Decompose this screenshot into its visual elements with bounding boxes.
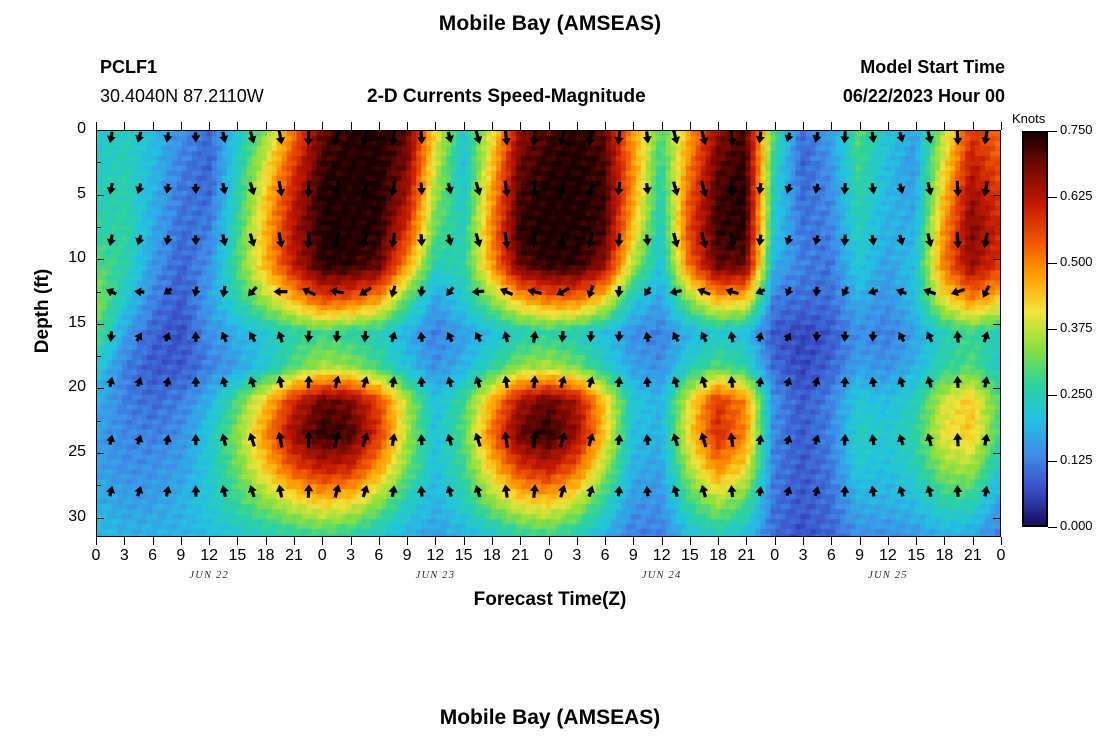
x-axis-tick (124, 537, 125, 545)
model-start-time-value: 06/22/2023 Hour 00 (660, 86, 1005, 107)
x-axis-day-label: JUN 23 (375, 570, 495, 581)
colorbar-tick (1048, 263, 1057, 264)
x-axis-title: Forecast Time(Z) (0, 589, 1100, 611)
y-axis-tick (96, 453, 104, 454)
x-axis-tick-label: 3 (109, 547, 139, 565)
x-axis-tick (266, 537, 267, 545)
x-axis-tick (1001, 537, 1002, 545)
x-axis-tick-label: 9 (166, 547, 196, 565)
x-axis-tick-top (294, 122, 295, 130)
x-axis-tick-label: 0 (534, 547, 564, 565)
x-axis-tick (520, 537, 521, 545)
x-axis-tick-top (973, 122, 974, 130)
x-axis-tick-top (775, 122, 776, 130)
y-axis-minor-tick (96, 356, 101, 357)
x-axis-tick-top (96, 122, 97, 130)
x-axis-tick (944, 537, 945, 545)
x-axis-tick (577, 537, 578, 545)
y-axis-tick-right (993, 518, 1001, 519)
x-axis-tick-label: 15 (675, 547, 705, 565)
colorbar-tick (1048, 461, 1057, 462)
x-axis-tick (549, 537, 550, 545)
colorbar-tick (1048, 131, 1057, 132)
x-axis-tick-top (803, 122, 804, 130)
colorbar-tick-label: 0.500 (1060, 254, 1093, 269)
x-axis-tick (181, 537, 182, 545)
station-coordinates: 30.4040N 87.2110W (100, 86, 264, 107)
x-axis-tick-label: 0 (307, 547, 337, 565)
colorbar-tick-label: 0.750 (1060, 122, 1093, 137)
x-axis-tick-top (407, 122, 408, 130)
x-axis-tick-label: 9 (392, 547, 422, 565)
x-axis-tick-label: 21 (279, 547, 309, 565)
x-axis-tick (407, 537, 408, 545)
x-axis-tick-top (605, 122, 606, 130)
colorbar-tick-label: 0.375 (1060, 320, 1093, 335)
x-axis-day-label: JUN 24 (602, 570, 722, 581)
x-axis-tick-label: 21 (731, 547, 761, 565)
x-axis-tick (718, 537, 719, 545)
x-axis-tick-label: 0 (986, 547, 1016, 565)
x-axis-tick-top (718, 122, 719, 130)
colorbar-tick-label: 0.625 (1060, 188, 1093, 203)
y-axis-tick (96, 130, 104, 131)
y-axis-tick-label: 10 (40, 249, 86, 267)
x-axis-tick (803, 537, 804, 545)
x-axis-tick-label: 0 (760, 547, 790, 565)
x-axis-tick (294, 537, 295, 545)
y-axis-minor-tick (96, 421, 101, 422)
x-axis-tick-top (464, 122, 465, 130)
x-axis-tick (464, 537, 465, 545)
x-axis-tick (435, 537, 436, 545)
x-axis-tick-top (124, 122, 125, 130)
x-axis-tick-label: 12 (194, 547, 224, 565)
x-axis-tick-top (322, 122, 323, 130)
colorbar-gradient (1024, 133, 1046, 525)
colorbar-tick (1048, 329, 1057, 330)
x-axis-tick-label: 18 (703, 547, 733, 565)
x-axis-tick (351, 537, 352, 545)
y-axis-minor-tick (96, 292, 101, 293)
y-axis-tick (96, 195, 104, 196)
x-axis-tick-top (633, 122, 634, 130)
x-axis-tick (322, 537, 323, 545)
x-axis-tick-label: 0 (81, 547, 111, 565)
y-axis-minor-tick (96, 162, 101, 163)
x-axis-tick-top (209, 122, 210, 130)
x-axis-tick-top (746, 122, 747, 130)
x-axis-tick-label: 15 (222, 547, 252, 565)
colorbar (1022, 131, 1048, 527)
x-axis-tick-top (549, 122, 550, 130)
x-axis-tick-top (577, 122, 578, 130)
station-id: PCLF1 (100, 57, 157, 78)
colorbar-tick-label: 0.000 (1060, 518, 1093, 533)
y-axis-tick-label: 20 (40, 378, 86, 396)
x-axis-tick-top (520, 122, 521, 130)
x-axis-tick-top (888, 122, 889, 130)
x-axis-tick-top (1001, 122, 1002, 130)
chart-subtitle: 2-D Currents Speed-Magnitude (367, 86, 646, 108)
x-axis-tick (237, 537, 238, 545)
y-axis-tick (96, 324, 104, 325)
x-axis-tick-label: 15 (901, 547, 931, 565)
x-axis-tick-top (351, 122, 352, 130)
y-axis-tick-label: 30 (40, 508, 86, 526)
x-axis-tick (492, 537, 493, 545)
y-axis-tick-label: 0 (40, 120, 86, 138)
x-axis-tick-top (237, 122, 238, 130)
y-axis-tick-right (993, 130, 1001, 131)
y-axis-tick-right (993, 324, 1001, 325)
x-axis-day-label: JUN 25 (828, 570, 948, 581)
y-axis-tick-label: 15 (40, 314, 86, 332)
x-axis-tick-label: 12 (873, 547, 903, 565)
x-axis-day-label: JUN 22 (149, 570, 269, 581)
colorbar-tick (1048, 395, 1057, 396)
y-axis-title: Depth (ft) (32, 251, 54, 371)
x-axis-tick (209, 537, 210, 545)
x-axis-tick-label: 12 (420, 547, 450, 565)
x-axis-tick-label: 12 (647, 547, 677, 565)
x-axis-tick (633, 537, 634, 545)
x-axis-tick-label: 9 (618, 547, 648, 565)
x-axis-tick-top (690, 122, 691, 130)
x-axis-tick-top (662, 122, 663, 130)
colorbar-tick-label: 0.250 (1060, 386, 1093, 401)
x-axis-tick-label: 6 (816, 547, 846, 565)
x-axis-tick-top (916, 122, 917, 130)
x-axis-tick-top (379, 122, 380, 130)
x-axis-tick-label: 3 (788, 547, 818, 565)
y-axis-tick-right (993, 388, 1001, 389)
x-axis-tick (605, 537, 606, 545)
y-axis-tick (96, 259, 104, 260)
x-axis-tick (662, 537, 663, 545)
x-axis-tick-label: 6 (364, 547, 394, 565)
x-axis-tick (153, 537, 154, 545)
y-axis-tick-right (993, 453, 1001, 454)
y-axis-minor-tick (96, 485, 101, 486)
x-axis-tick (379, 537, 380, 545)
x-axis-tick-label: 18 (929, 547, 959, 565)
y-axis-tick (96, 518, 104, 519)
x-axis-tick (860, 537, 861, 545)
speed-magnitude-heatmap (97, 131, 1000, 536)
currents-heatmap-plot (96, 130, 1001, 537)
x-axis-tick (746, 537, 747, 545)
x-axis-tick-top (266, 122, 267, 130)
x-axis-tick-label: 21 (505, 547, 535, 565)
y-axis-minor-tick (96, 227, 101, 228)
y-axis-tick (96, 388, 104, 389)
x-axis-tick (916, 537, 917, 545)
y-axis-tick-label: 25 (40, 443, 86, 461)
x-axis-tick-label: 18 (477, 547, 507, 565)
x-axis-tick-label: 21 (958, 547, 988, 565)
x-axis-tick-top (492, 122, 493, 130)
x-axis-tick (96, 537, 97, 545)
colorbar-tick-label: 0.125 (1060, 452, 1093, 467)
x-axis-tick (690, 537, 691, 545)
x-axis-tick-top (831, 122, 832, 130)
x-axis-tick-label: 6 (590, 547, 620, 565)
y-axis-tick-label: 5 (40, 185, 86, 203)
x-axis-tick-top (153, 122, 154, 130)
x-axis-tick (831, 537, 832, 545)
x-axis-tick-label: 3 (562, 547, 592, 565)
footer-title: Mobile Bay (AMSEAS) (0, 706, 1100, 730)
x-axis-tick-label: 15 (449, 547, 479, 565)
x-axis-tick (775, 537, 776, 545)
x-axis-tick (973, 537, 974, 545)
colorbar-tick (1048, 197, 1057, 198)
page-title: Mobile Bay (AMSEAS) (0, 12, 1100, 36)
colorbar-title: Knots (1012, 111, 1045, 126)
x-axis-tick-top (181, 122, 182, 130)
x-axis-tick-top (435, 122, 436, 130)
y-axis-tick-right (993, 259, 1001, 260)
x-axis-tick-label: 9 (845, 547, 875, 565)
model-start-time-label: Model Start Time (660, 57, 1005, 78)
x-axis-tick-label: 18 (251, 547, 281, 565)
x-axis-tick-label: 3 (336, 547, 366, 565)
colorbar-tick (1048, 527, 1057, 528)
x-axis-tick-top (860, 122, 861, 130)
y-axis-tick-right (993, 195, 1001, 196)
x-axis-tick-label: 6 (138, 547, 168, 565)
x-axis-tick (888, 537, 889, 545)
x-axis-tick-top (944, 122, 945, 130)
